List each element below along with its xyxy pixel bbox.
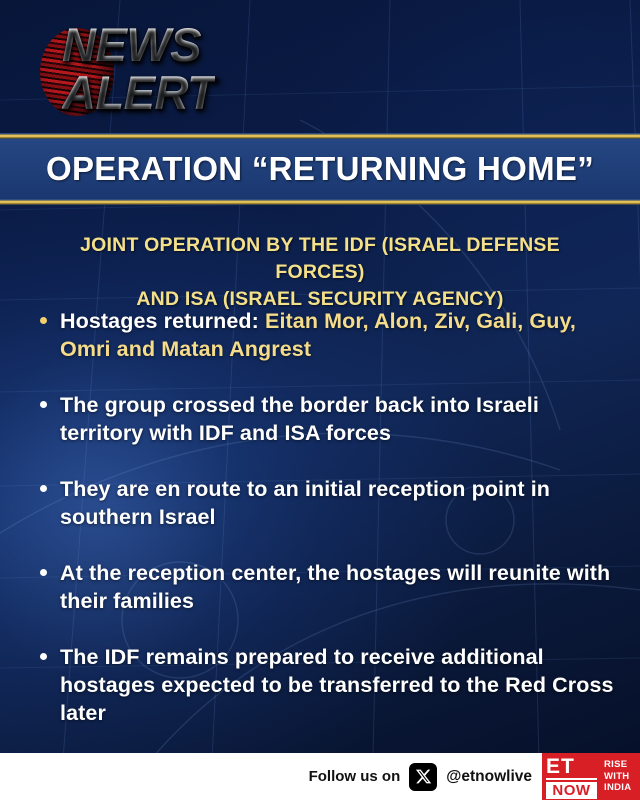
subtitle: JOINT OPERATION BY THE IDF (ISRAEL DEFEN… <box>40 232 600 313</box>
list-item: The group crossed the border back into I… <box>36 391 620 447</box>
bullet-text: Hostages returned: Eitan Mor, Alon, Ziv,… <box>60 307 620 363</box>
etnow-et-text: ET <box>546 756 597 780</box>
news-alert-line-2: ALERT <box>62 70 215 116</box>
header-area: NEWS ALERT <box>0 0 640 135</box>
follow-label: Follow us on <box>309 768 401 785</box>
news-alert-wordmark: NEWS ALERT <box>62 22 215 116</box>
bullet-lead: Hostages returned: <box>60 309 265 333</box>
gold-divider-bottom <box>0 199 640 205</box>
bullet-text: They are en route to an initial receptio… <box>60 475 620 531</box>
tagline-line-2: WITH <box>604 771 640 783</box>
x-twitter-icon[interactable] <box>409 763 437 791</box>
bullet-text: At the reception center, the hostages wi… <box>60 559 620 615</box>
list-item: At the reception center, the hostages wi… <box>36 559 620 615</box>
etnow-logo-mark: ET NOW ET NOW.IN <box>542 753 600 800</box>
bullet-dot-icon <box>40 653 47 660</box>
news-alert-logo: NEWS ALERT <box>34 22 234 122</box>
subtitle-line-1: JOINT OPERATION BY THE IDF (ISRAEL DEFEN… <box>40 232 600 286</box>
bullet-text: The group crossed the border back into I… <box>60 391 620 447</box>
bullet-dot-icon <box>40 401 47 408</box>
twitter-handle[interactable]: @etnowlive <box>446 768 532 786</box>
news-alert-card: NEWS ALERT OPERATION “RETURNING HOME” JO… <box>0 0 640 800</box>
list-item: The IDF remains prepared to receive addi… <box>36 643 620 727</box>
bullet-dot-icon <box>40 317 47 324</box>
page-title: OPERATION “RETURNING HOME” <box>46 150 594 188</box>
follow-us-group: Follow us on @etnowlive <box>309 763 532 791</box>
etnow-logo[interactable]: ET NOW ET NOW.IN RISE WITH INDIA <box>542 753 640 800</box>
bullet-dot-icon <box>40 569 47 576</box>
bullet-text: The IDF remains prepared to receive addi… <box>60 643 620 727</box>
footer-bar: Follow us on @etnowlive ET NOW ET NOW.IN… <box>0 753 640 800</box>
bullet-list: Hostages returned: Eitan Mor, Alon, Ziv,… <box>36 307 620 727</box>
bullet-dot-icon <box>40 485 47 492</box>
news-alert-line-1: NEWS <box>62 22 215 68</box>
list-item: Hostages returned: Eitan Mor, Alon, Ziv,… <box>36 307 620 363</box>
headline-band: OPERATION “RETURNING HOME” <box>0 139 640 199</box>
etnow-now-text: NOW <box>546 782 597 799</box>
etnow-tagline: RISE WITH INDIA <box>600 753 640 800</box>
list-item: They are en route to an initial receptio… <box>36 475 620 531</box>
tagline-line-1: RISE <box>604 759 640 771</box>
tagline-line-3: INDIA <box>604 782 640 794</box>
